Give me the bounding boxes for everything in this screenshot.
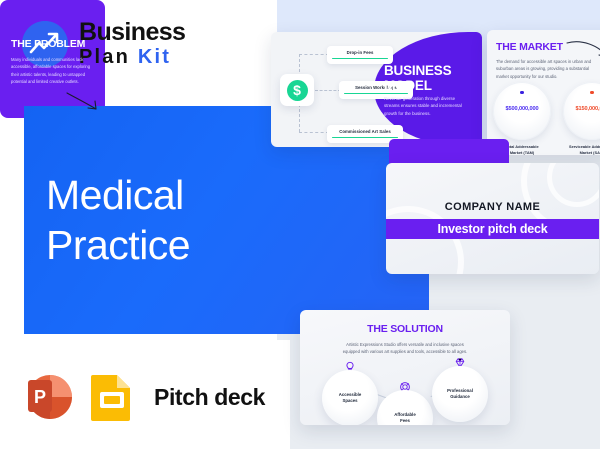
slide-business-model[interactable]: $ Drop-in Fees Session Workshops Commiss… [271,32,482,147]
market-stat-sam-caption: Serviceable Addressable Market (SAM) [561,144,600,155]
company-name-title: COMPANY NAME [386,201,599,213]
business-model-title: BUSINESS MODEL [384,63,474,93]
label-line2: Guidance [447,394,473,400]
solution-item-1-label: Accessible Spaces [339,392,361,405]
label-line2: Spaces [339,398,361,404]
solution-item-affordable-fees[interactable]: Affordable Fees [377,390,433,425]
format-badges: P Pitch deck [20,373,265,421]
solution-bubble: Affordable Fees [377,390,433,425]
solution-bubble: Professional Guidance [432,366,488,422]
market-dial: $500,000,000 [493,82,551,140]
hero-line-1: Medical [46,170,190,220]
company-subtitle-band: Investor pitch deck [386,219,599,239]
connector-bottom [299,132,329,133]
solution-item-professional-guidance[interactable]: Professional Guidance [432,366,488,422]
decorative-ring [386,206,464,274]
business-model-item-1-label: Drop-in Fees [332,50,388,55]
business-model-description: Revenue generation through diverse strea… [384,95,470,117]
dollar-sign-icon: $ [280,74,314,106]
problem-title: THE PROBLEM [11,38,85,50]
curved-arrow-icon [66,92,100,117]
market-stat-sam[interactable]: $150,000,000 Serviceable Addressable Mar… [561,82,600,155]
solution-bubble: Accessible Spaces [322,370,378,425]
caption-line2: Market (SAM) [561,150,600,155]
page-title: Medical Practice [46,170,190,270]
connector-middle [315,90,341,91]
format-label: Pitch deck [154,384,265,411]
company-subtitle: Investor pitch deck [437,222,547,236]
market-stat-sam-value: $150,000,000 [563,106,600,112]
powerpoint-file-icon: P [20,373,76,421]
business-model-item-1[interactable]: Drop-in Fees [327,46,393,64]
underline-rule [332,137,398,138]
svg-text:P: P [34,387,46,407]
slide-the-market[interactable]: THE MARKET The demand for accessible art… [487,30,600,155]
dial-marker-dot [590,91,593,94]
underline-rule [332,58,388,59]
business-model-item-3-label: Commissioned Art Sales [332,129,398,134]
dial-marker-dot [520,91,523,94]
market-description: The demand for accessible art spaces in … [496,58,598,80]
poster-canvas: Business Plan Kit Medical Practice P [0,0,600,449]
slide-company-name[interactable]: COMPANY NAME Investor pitch deck [386,163,599,274]
business-model-title-line1: BUSINESS [384,63,474,78]
solution-title: THE SOLUTION [300,323,510,335]
market-title: THE MARKET [496,41,563,53]
solution-item-3-label: Professional Guidance [447,388,473,401]
brand-kit-word: Kit [138,46,171,68]
hero-line-2: Practice [46,220,190,270]
market-dial: $150,000,000 [563,82,600,140]
solution-item-2-label: Affordable Fees [394,412,416,425]
solution-items: Accessible Spaces Affordable F [300,362,510,424]
slide-the-solution[interactable]: THE SOLUTION Artistic Expressions Studio… [300,310,510,425]
connector-top [299,54,329,55]
market-stat-tam-value: $500,000,000 [493,106,551,112]
solution-description: Artistic Expressions Studio offers versa… [340,341,470,356]
business-model-title-line2: MODEL [384,78,474,93]
brand-name-line1: Business [79,20,185,45]
solution-item-accessible-spaces[interactable]: Accessible Spaces [322,370,378,425]
problem-description: Many individuals and communities lack ac… [11,56,99,85]
label-line2: Fees [394,418,416,424]
google-slides-file-icon [90,373,134,421]
